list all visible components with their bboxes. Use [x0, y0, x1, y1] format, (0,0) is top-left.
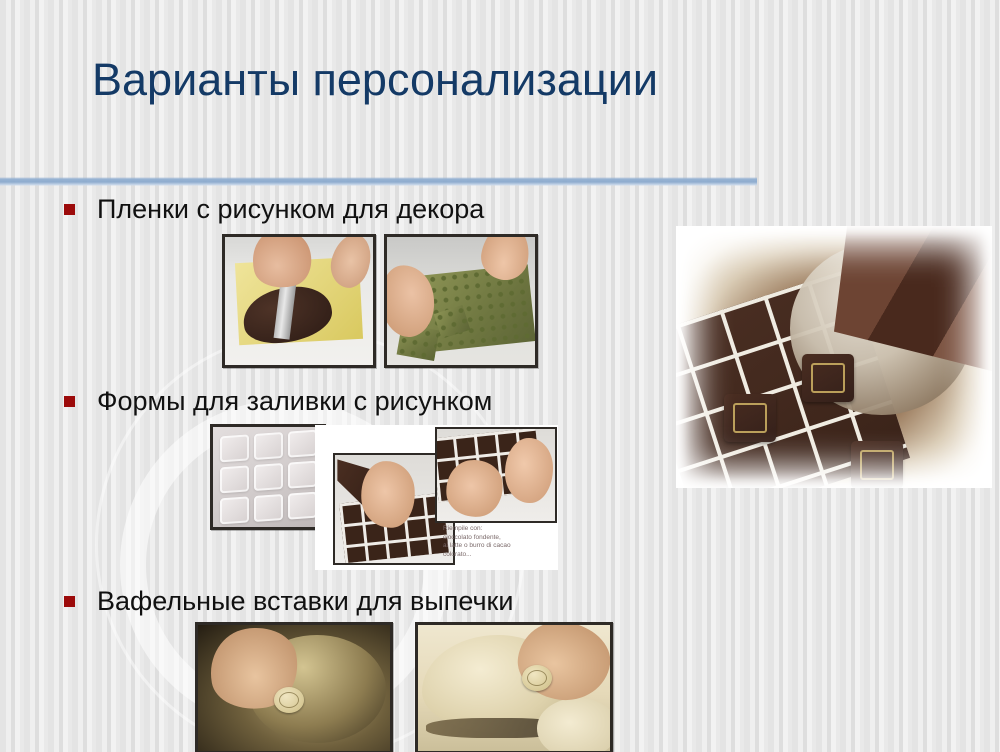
- bullet-label-2: Формы для заливки с рисунком: [97, 386, 492, 416]
- caption-line-3: al latte o burro di cacao: [443, 542, 555, 551]
- square-bullet-icon: [64, 204, 75, 215]
- caption-line-4: colorato...: [443, 551, 555, 560]
- mold-cavity: [220, 496, 249, 524]
- dough: [537, 698, 613, 752]
- mold-cavity-grid: [220, 430, 317, 525]
- page-title: Варианты персонализации: [92, 52, 952, 108]
- mold-cavity: [254, 432, 283, 460]
- mold-cavity: [220, 434, 249, 462]
- mold-cavity: [287, 461, 316, 489]
- mold-cavity: [254, 463, 283, 491]
- collage-caption: Riempile con: cioccolato fondente, al la…: [443, 525, 555, 559]
- mold-cavity: [287, 492, 316, 520]
- square-bullet-icon: [64, 396, 75, 407]
- caption-line-1: Riempile con:: [443, 525, 555, 534]
- bullet-item-2: Формы для заливки с рисунком: [64, 386, 492, 416]
- bullet-item-3: Вафельные вставки для выпечки: [64, 586, 513, 616]
- wafer-disc: [522, 665, 552, 691]
- title-divider: [0, 177, 757, 186]
- photo-peeling-patterned-transfer-sheet: [384, 234, 538, 368]
- slide-canvas: Варианты персонализации Пленки с рисунко…: [0, 0, 1000, 752]
- photo-chocolate-squares-with-gold-logo: [676, 226, 992, 488]
- bullet-label-3: Вафельные вставки для выпечки: [97, 586, 513, 616]
- mold-cavity: [220, 465, 249, 493]
- photo-empty-square-polycarbonate-mold: [210, 424, 326, 530]
- photo-placing-wafer-disc-on-dough: [415, 622, 613, 752]
- bullet-item-1: Пленки с рисунком для декора: [64, 194, 484, 224]
- mold-cavity: [254, 494, 283, 522]
- photo-hand-holding-finished-chocolate-piece: [435, 427, 557, 523]
- photo-wafer-disc-over-mixing-bowl: [195, 622, 393, 752]
- mold-cavity: [287, 430, 316, 458]
- vignette-overlay: [676, 226, 992, 488]
- square-bullet-icon: [64, 596, 75, 607]
- hand: [505, 438, 552, 502]
- mold-filling-collage: Riempile con: cioccolato fondente, al la…: [315, 425, 558, 570]
- caption-line-2: cioccolato fondente,: [443, 534, 555, 543]
- wafer-disc: [274, 687, 304, 713]
- bullet-label-1: Пленки с рисунком для декора: [97, 194, 484, 224]
- photo-spreading-chocolate-on-transfer-sheet: [222, 234, 376, 368]
